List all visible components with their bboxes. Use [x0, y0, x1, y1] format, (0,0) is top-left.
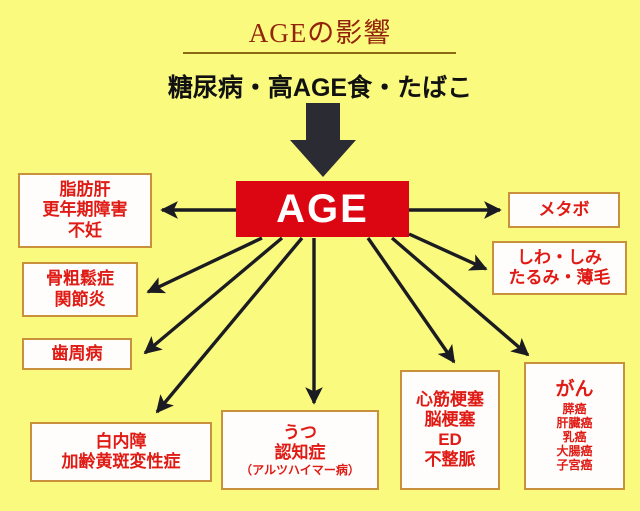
node-line: 脂肪肝 [60, 180, 111, 200]
age-effects-diagram: AGEの影響 糖尿病・高AGE食・たばこ AGE 脂肪肝 更 [0, 0, 640, 511]
node-line: 白内障 [96, 432, 147, 452]
node-osteoporosis[interactable]: 骨粗鬆症 関節炎 [22, 262, 138, 317]
node-skin-hair[interactable]: しわ・しみ たるみ・薄毛 [492, 241, 627, 295]
diagram-subtitle: 糖尿病・高AGE食・たばこ [0, 68, 640, 104]
age-central-node[interactable]: AGE [236, 181, 409, 237]
node-line: 心筋梗塞 [416, 390, 484, 410]
node-line: しわ・しみ [517, 248, 602, 268]
node-line: 膵癌 [562, 402, 586, 416]
title-divider [183, 52, 456, 54]
node-cancer[interactable]: がん 膵癌 肝臓癌 乳癌 大腸癌 子宮癌 [524, 362, 625, 490]
node-cataract[interactable]: 白内障 加齢黄斑変性症 [30, 422, 212, 482]
node-line: 骨粗鬆症 [46, 269, 114, 289]
arrow-to-osteoporosis [148, 238, 262, 292]
node-line: 子宮癌 [556, 458, 592, 472]
node-line: 不整脈 [425, 450, 476, 470]
node-line: 関節炎 [55, 290, 106, 310]
node-line: 認知症 [275, 443, 326, 463]
node-line: 加齢黄斑変性症 [62, 452, 181, 472]
node-line: がん [555, 379, 593, 401]
page-title: AGEの影響 [0, 11, 640, 50]
arrow-to-periodontitis [145, 238, 282, 353]
node-line: 大腸癌 [556, 444, 592, 458]
node-line: 不妊 [68, 221, 102, 241]
node-periodontitis[interactable]: 歯周病 [22, 338, 132, 370]
node-line: メタボ [539, 200, 590, 220]
age-central-label: AGE [276, 189, 369, 229]
node-line: （アルツハイマー病） [240, 463, 360, 477]
arrow-source-to-age [290, 103, 356, 177]
node-line: たるみ・薄毛 [509, 268, 611, 288]
node-metabolic-syndrome[interactable]: メタボ [508, 192, 620, 228]
node-line: 更年期障害 [43, 200, 128, 220]
node-line: 脳梗塞 [425, 410, 476, 430]
arrow-to-skin [409, 234, 486, 269]
node-line: 肝臓癌 [556, 416, 592, 430]
arrow-to-cataract [157, 238, 302, 412]
node-line: 歯周病 [52, 344, 103, 364]
node-cardiovascular[interactable]: 心筋梗塞 脳梗塞 ED 不整脈 [400, 370, 500, 490]
node-depression[interactable]: うつ 認知症 （アルツハイマー病） [221, 410, 379, 490]
node-fatty-liver[interactable]: 脂肪肝 更年期障害 不妊 [18, 173, 152, 248]
node-line: ED [438, 430, 462, 450]
node-line: 乳癌 [562, 430, 586, 444]
node-line: うつ [283, 423, 317, 443]
arrow-to-cardio [368, 238, 454, 362]
